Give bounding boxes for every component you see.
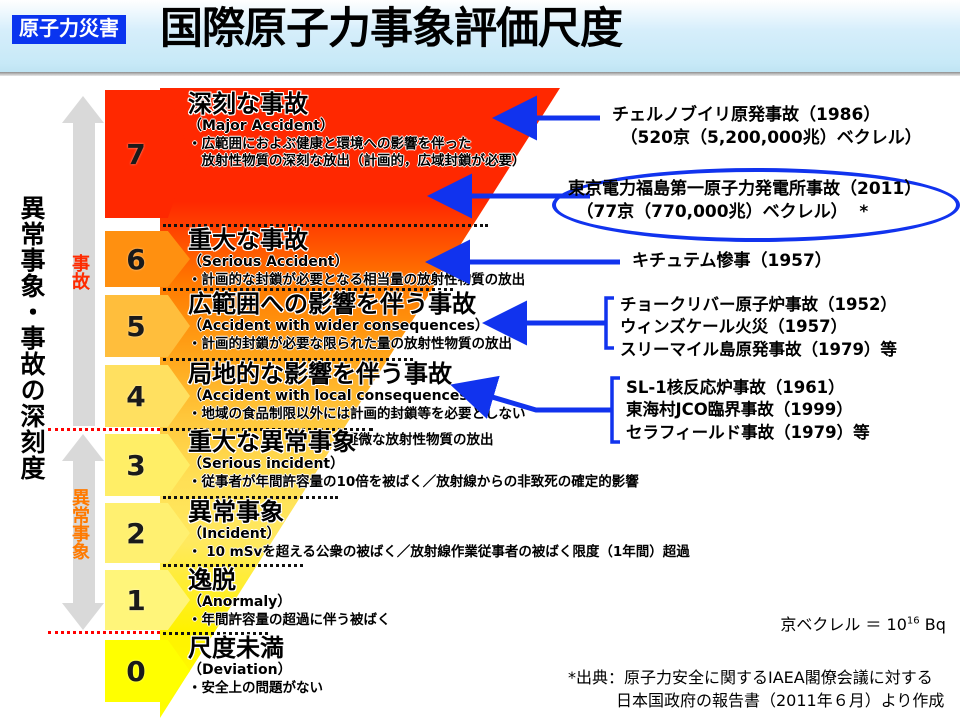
annotation-level5-events: チョークリバー原子炉事故（1952） ウィンズケール火災（1957） スリーマイ…: [620, 294, 897, 361]
level-number: 4: [105, 380, 167, 413]
level-text-5: 広範囲への影響を伴う事故 （Accident with wider conseq…: [188, 292, 512, 353]
unit-note-tail: Bq: [920, 615, 946, 634]
level-number: 3: [105, 449, 167, 482]
level-text-0: 尺度未満 （Deviation） ・安全上の問題がない: [188, 636, 323, 697]
unit-note: 京ベクレル ＝ 1016 Bq: [760, 590, 946, 660]
level-description: ・従事者が年間許容量の10倍を被ばく／放射線からの非致死の確定的影響: [188, 474, 639, 491]
level-number: 7: [105, 138, 167, 171]
incident-arrow-label: 異常事象: [70, 488, 88, 560]
level-text-7: 深刻な事故 （Major Accident） ・広範囲におよぶ健康と環境への影響…: [188, 92, 526, 170]
level-title-en: （Serious incident）: [188, 456, 639, 473]
level-title-jp: 広範囲への影響を伴う事故: [188, 292, 512, 317]
category-badge: 原子力災害: [12, 15, 126, 44]
level-number: 1: [105, 584, 167, 617]
level-number: 6: [105, 243, 167, 276]
level-number: 5: [105, 310, 167, 343]
annotation-kyshtym: キチュテム惨事（1957）: [632, 250, 832, 273]
level-description: ・広範囲におよぶ健康と環境への影響を伴った 放射性物質の深刻な放出（計画的，広域…: [188, 136, 526, 170]
level-text-1: 逸脱 （Anormaly） ・年間許容量の超過に伴う被ばく: [188, 568, 391, 629]
level-text-4: 局地的な影響を伴う事故 （Accident with local consequ…: [188, 362, 526, 423]
level-number: 2: [105, 517, 167, 550]
arrow-head-up-icon: [62, 96, 104, 123]
level-text-3: 重大な異常事象 （Serious incident） ・従事者が年間許容量の10…: [188, 430, 639, 491]
arrow-head-up-icon: [62, 434, 104, 461]
level-title-en: （Accident with local consequences ）: [188, 388, 526, 405]
level-text-6: 重大な事故 （Serious Accident） ・計画的な封鎖が必要となる相当…: [188, 228, 525, 289]
source-note: *出典：原子力安全に関するIAEA閣僚会議に対する 日本国政府の報告書（2011…: [568, 666, 944, 712]
level-description: ・計画的な封鎖が必要となる相当量の放射性物質の放出: [188, 272, 525, 289]
level-text-2: 異常事象 （Incident） ・ 10 mSvを超える公衆の被ばく／放射線作業…: [188, 500, 690, 561]
level-title-jp: 重大な異常事象: [188, 430, 639, 455]
level-title-jp: 逸脱: [188, 568, 391, 593]
level-title-en: （Anormaly）: [188, 594, 391, 611]
level-title-jp: 重大な事故: [188, 228, 525, 253]
unit-note-text: 京ベクレル ＝ 10: [780, 615, 907, 634]
level-description: ・ 10 mSvを超える公衆の被ばく／放射線作業従事者の被ばく限度（1年間）超過: [188, 544, 690, 561]
level-title-jp: 尺度未満: [188, 636, 323, 661]
severity-axis-label: 異常事象・事故の深刻度: [8, 195, 44, 481]
level-title-jp: 深刻な事故: [188, 92, 526, 117]
level-title-en: （Accident with wider consequences）: [188, 318, 512, 335]
level-title-en: （Incident）: [188, 526, 690, 543]
accident-arrow-label: 事故: [70, 254, 88, 290]
level-title-jp: 異常事象: [188, 500, 690, 525]
level-title-en: （Deviation）: [188, 662, 323, 679]
annotation-level4-events: SL-1核反応炉事故（1961） 東海村JCO臨界事故（1999） セラフィール…: [626, 377, 870, 444]
header-divider: [0, 72, 960, 76]
level-title-en: （Serious Accident）: [188, 254, 525, 271]
level-description: ・計画的封鎖が必要な限られた量の放射性物質の放出: [188, 336, 512, 353]
page-title: 国際原子力事象評価尺度: [160, 3, 622, 57]
annotation-chernobyl: チェルノブイリ原発事故（1986） （520京（5,200,000兆）ベクレル）: [612, 104, 922, 150]
level-title-en: （Major Accident）: [188, 118, 526, 135]
level-description: ・年間許容量の超過に伴う被ばく: [188, 612, 391, 629]
level-description: ・地域の食品制限以外には計画的封鎖等を必要としない: [188, 406, 526, 423]
annotation-fukushima: 東京電力福島第一原子力発電所事故（2011） （77京（770,000兆）ベクレ…: [568, 178, 921, 224]
level-description: ・安全上の問題がない: [188, 680, 323, 697]
arrow-head-down-icon: [62, 603, 104, 630]
level-number: 0: [105, 655, 167, 688]
unit-note-exponent: 16: [907, 616, 920, 627]
level-title-jp: 局地的な影響を伴う事故: [188, 362, 526, 387]
